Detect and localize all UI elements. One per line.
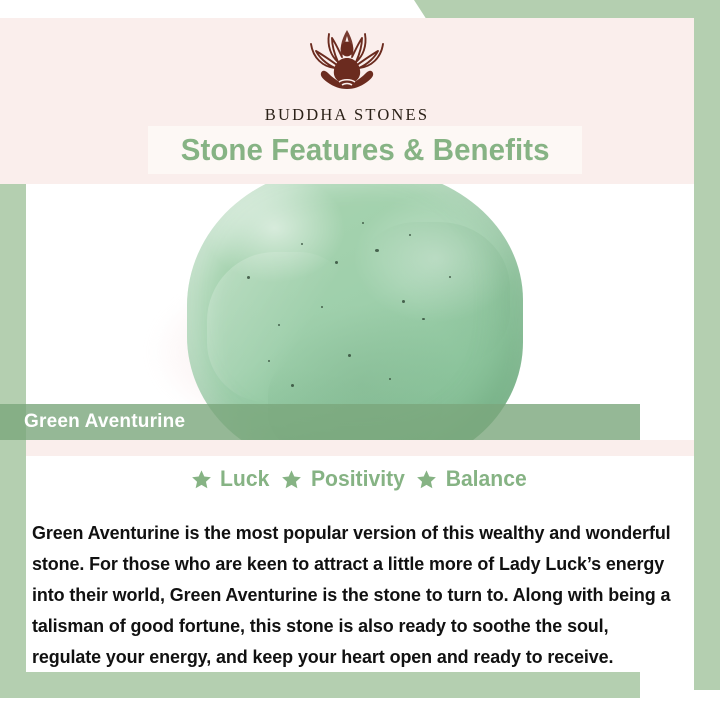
benefit-item-positivity: Positivity <box>281 466 407 492</box>
benefit-label: Balance <box>446 466 527 492</box>
stone-inclusion <box>321 306 323 308</box>
frame-accent-left-notch <box>0 182 26 202</box>
star-icon <box>416 469 437 490</box>
stone-facet <box>355 222 510 366</box>
title-banner: Stone Features & Benefits <box>148 126 582 174</box>
stone-inclusion <box>335 261 338 264</box>
benefit-label: Positivity <box>311 466 405 492</box>
stone-inclusion <box>278 324 280 326</box>
benefit-item-luck: Luck <box>191 466 270 492</box>
stone-inclusion <box>375 249 379 252</box>
frame-accent-bottom <box>0 672 640 698</box>
stone-inclusion <box>362 222 364 224</box>
frame-accent-right <box>694 0 720 690</box>
benefit-label: Luck <box>220 466 269 492</box>
stone-inclusion <box>449 276 451 278</box>
page-title: Stone Features & Benefits <box>181 132 550 168</box>
stone-inclusion <box>409 234 411 236</box>
benefit-item-balance: Balance <box>416 466 528 492</box>
frame-accent-left <box>0 182 26 698</box>
stone-facet <box>207 252 355 402</box>
stone-inclusion <box>422 318 425 320</box>
star-icon <box>191 469 212 490</box>
lotus-meditation-icon <box>282 22 412 100</box>
stone-inclusion <box>268 360 270 362</box>
stone-name-text: Green Aventurine <box>24 411 185 433</box>
stone-inclusion <box>247 276 250 279</box>
brand-name: BUDDHA STONES <box>0 105 694 125</box>
stone-features-infographic: BUDDHA STONES Stone Features & Benefits <box>0 0 720 720</box>
divider-strip <box>26 440 694 456</box>
stone-inclusion <box>389 378 391 380</box>
stone-inclusion <box>348 354 351 357</box>
benefits-list: Luck Positivity Balance <box>26 466 694 492</box>
stone-name-label: Green Aventurine <box>0 404 640 440</box>
stone-inclusion <box>301 243 303 245</box>
star-icon <box>281 469 302 490</box>
stone-inclusion <box>402 300 405 303</box>
brand-logo: BUDDHA STONES <box>0 22 694 125</box>
stone-inclusion <box>291 384 294 387</box>
stone-description: Green Aventurine is the most popular ver… <box>32 517 673 672</box>
